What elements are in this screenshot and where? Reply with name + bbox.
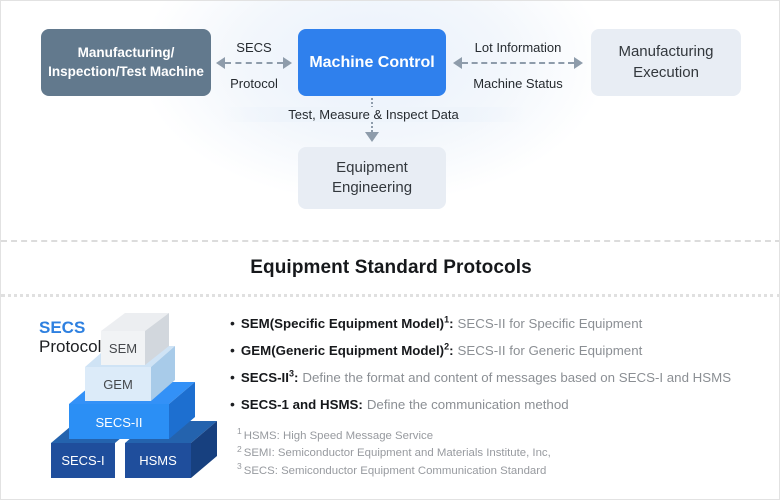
secs-protocol-stack-diagram: SEM GEM SECS-II SECS-I HSMS <box>29 313 219 485</box>
footnote-item: 1HSMS: High Speed Message Service <box>237 428 757 445</box>
node-machine-control[interactable]: Machine Control <box>298 29 446 96</box>
pyramid-label-secs-ii: SECS-II <box>96 415 143 430</box>
node-manufacturing-execution-line1: Manufacturing <box>618 43 713 60</box>
page-title: Equipment Standard Protocols <box>250 257 532 279</box>
bullet-term: SECS-II3: <box>241 369 298 386</box>
pyramid-label-gem: GEM <box>103 377 133 392</box>
bullet-dot-icon: • <box>230 396 235 414</box>
node-manufacturing-machine[interactable]: Manufacturing/ Inspection/Test Machine <box>41 29 211 96</box>
connector-secs-protocol-line1: SECS <box>212 39 296 57</box>
list-item: • SECS-1 and HSMS: Define the communicat… <box>230 396 760 414</box>
bullet-term-sup: 3 <box>289 369 294 379</box>
connector-lot-information-line2: Machine Status <box>453 75 583 93</box>
node-equipment-engineering[interactable]: Equipment Engineering <box>298 147 446 209</box>
footnote-marker: 3 <box>237 461 242 471</box>
connector-secs-protocol-label: SECS Protocol <box>212 39 296 94</box>
pyramid-label-sem: SEM <box>109 341 137 356</box>
footnote-text: HSMS: High Speed Message Service <box>244 430 433 442</box>
node-manufacturing-machine-line1: Manufacturing/ <box>78 45 175 60</box>
bullet-dot-icon: • <box>230 369 235 387</box>
bullet-term-sup: 1 <box>444 315 449 325</box>
footnote-marker: 1 <box>237 426 242 436</box>
bullet-term-text: GEM(Generic Equipment Model) <box>241 343 444 358</box>
footnote-item: 3SECS: Semiconductor Equipment Communica… <box>237 463 757 480</box>
bullet-description: Define the format and content of message… <box>302 369 731 386</box>
list-item: • GEM(Generic Equipment Model)2: SECS-II… <box>230 342 760 360</box>
footnote-text: SECS: Semiconductor Equipment Communicat… <box>244 465 547 477</box>
page-root: Manufacturing/ Inspection/Test Machine M… <box>0 0 780 500</box>
footnote-item: 2SEMI: Semiconductor Equipment and Mater… <box>237 445 757 462</box>
node-manufacturing-execution[interactable]: Manufacturing Execution <box>591 29 741 96</box>
bullet-term-text: SECS-II <box>241 370 289 385</box>
bullet-description: Define the communication method <box>367 396 569 413</box>
protocol-bullet-list: • SEM(Specific Equipment Model)1: SECS-I… <box>230 315 760 423</box>
connector-secs-protocol-line2: Protocol <box>212 75 296 93</box>
section-title-band: Equipment Standard Protocols <box>1 242 780 294</box>
connector-test-measure-label: Test, Measure & Inspect Data <box>221 107 526 122</box>
bullet-dot-icon: • <box>230 315 235 333</box>
arrow-head-down-icon <box>365 132 379 142</box>
node-equipment-engineering-line1: Equipment <box>336 159 408 176</box>
list-item: • SECS-II3: Define the format and conten… <box>230 369 760 387</box>
footnote-text: SEMI: Semiconductor Equipment and Materi… <box>244 447 551 459</box>
list-item: • SEM(Specific Equipment Model)1: SECS-I… <box>230 315 760 333</box>
node-manufacturing-execution-line2: Execution <box>633 64 699 81</box>
node-manufacturing-machine-line2: Inspection/Test Machine <box>48 64 204 79</box>
bullet-term-text: SEM(Specific Equipment Model) <box>241 316 444 331</box>
bullet-description: SECS-II for Generic Equipment <box>458 342 643 359</box>
footnote-marker: 2 <box>237 444 242 454</box>
bullet-term-text: SECS-1 and HSMS <box>241 397 358 412</box>
bullet-dot-icon: • <box>230 342 235 360</box>
footnote-list: 1HSMS: High Speed Message Service 2SEMI:… <box>237 428 757 480</box>
connector-lot-information-label: Lot Information Machine Status <box>453 39 583 94</box>
bullet-term: GEM(Generic Equipment Model)2: <box>241 342 454 359</box>
protocol-details-section: SECS Protocol <box>1 297 780 500</box>
bullet-term-sup: 2 <box>444 342 449 352</box>
pyramid-label-secs-i: SECS-I <box>61 453 104 468</box>
pyramid-label-hsms: HSMS <box>139 453 177 468</box>
bullet-term: SEM(Specific Equipment Model)1: <box>241 315 454 332</box>
bullet-description: SECS-II for Specific Equipment <box>458 315 643 332</box>
node-equipment-engineering-line2: Engineering <box>332 179 412 196</box>
connector-lot-information-line1: Lot Information <box>453 39 583 57</box>
bullet-term: SECS-1 and HSMS: <box>241 396 363 413</box>
node-machine-control-label: Machine Control <box>309 52 434 73</box>
architecture-diagram: Manufacturing/ Inspection/Test Machine M… <box>1 1 780 240</box>
